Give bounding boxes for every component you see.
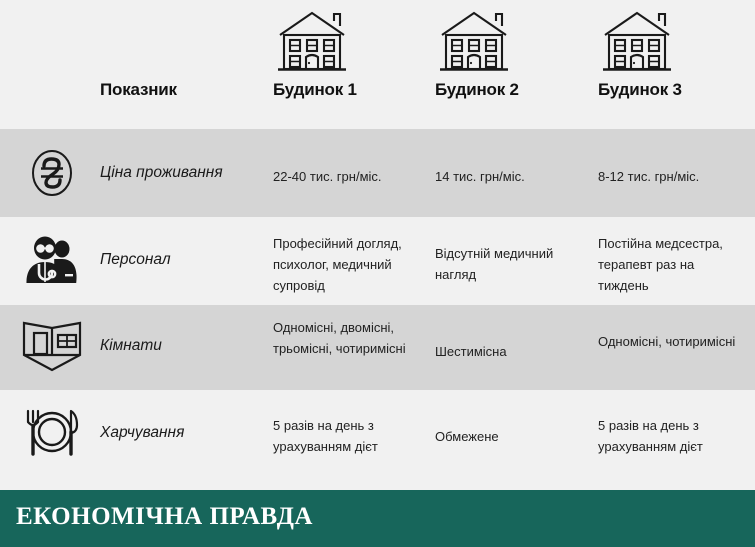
cutlery-icon — [20, 404, 84, 460]
brand-logo: ЕКОНОМІЧНА ПРАВДА — [16, 503, 313, 531]
footer-bar: ЕКОНОМІЧНА ПРАВДА — [0, 490, 755, 547]
medical-staff-icon — [20, 233, 84, 289]
house-icon — [598, 10, 676, 72]
cell-house-3: 5 разів на день з урахуванням дієт — [598, 415, 748, 457]
table-row: Персонал Професійний догляд, психолог, м… — [0, 217, 755, 305]
house-icon — [435, 10, 513, 72]
row-label: Ціна проживання — [100, 164, 223, 182]
column-header-label: Будинок 3 — [598, 80, 682, 100]
column-header-label: Будинок 1 — [273, 80, 357, 100]
comparison-table: Показник — [0, 0, 755, 487]
cell-house-2: 14 тис. грн/міс. — [435, 166, 585, 187]
cell-house-1: 22-40 тис. грн/міс. — [273, 166, 423, 187]
table-header-row: Показник — [0, 0, 755, 129]
column-header-label: Будинок 2 — [435, 80, 519, 100]
metric-column-header: Показник — [100, 80, 177, 100]
cell-house-3: 8-12 тис. грн/міс. — [598, 166, 748, 187]
cell-house-1: 5 разів на день з урахуванням дієт — [273, 415, 423, 457]
house-icon — [273, 10, 351, 72]
cell-house-2: Шестимісна — [435, 341, 585, 362]
cell-house-1: Професійний догляд, психолог, медичний с… — [273, 233, 423, 296]
cell-house-2: Обмежене — [435, 426, 585, 447]
table-row: Харчування 5 разів на день з урахуванням… — [0, 390, 755, 487]
row-label: Харчування — [100, 424, 184, 442]
table-row: Кімнати Одномісні, двомісні, трьомісні, … — [0, 305, 755, 390]
cell-house-3: Одномісні, чотиримісні — [598, 331, 748, 352]
cell-house-2: Відсутній медичний нагляд — [435, 243, 585, 285]
column-header-house-3: Будинок 3 — [598, 0, 755, 129]
cell-house-1: Одномісні, двомісні, трьомісні, чотиримі… — [273, 317, 423, 359]
table-row: Ціна проживання 22-40 тис. грн/міс. 14 т… — [0, 129, 755, 217]
row-label: Персонал — [100, 251, 171, 269]
column-header-house-1: Будинок 1 — [273, 0, 433, 129]
room-interior-icon — [20, 317, 84, 373]
cell-house-3: Постійна медсестра, терапевт раз на тижд… — [598, 233, 748, 296]
column-header-house-2: Будинок 2 — [435, 0, 595, 129]
hryvnia-coin-icon — [20, 147, 84, 199]
row-label: Кімнати — [100, 337, 162, 355]
